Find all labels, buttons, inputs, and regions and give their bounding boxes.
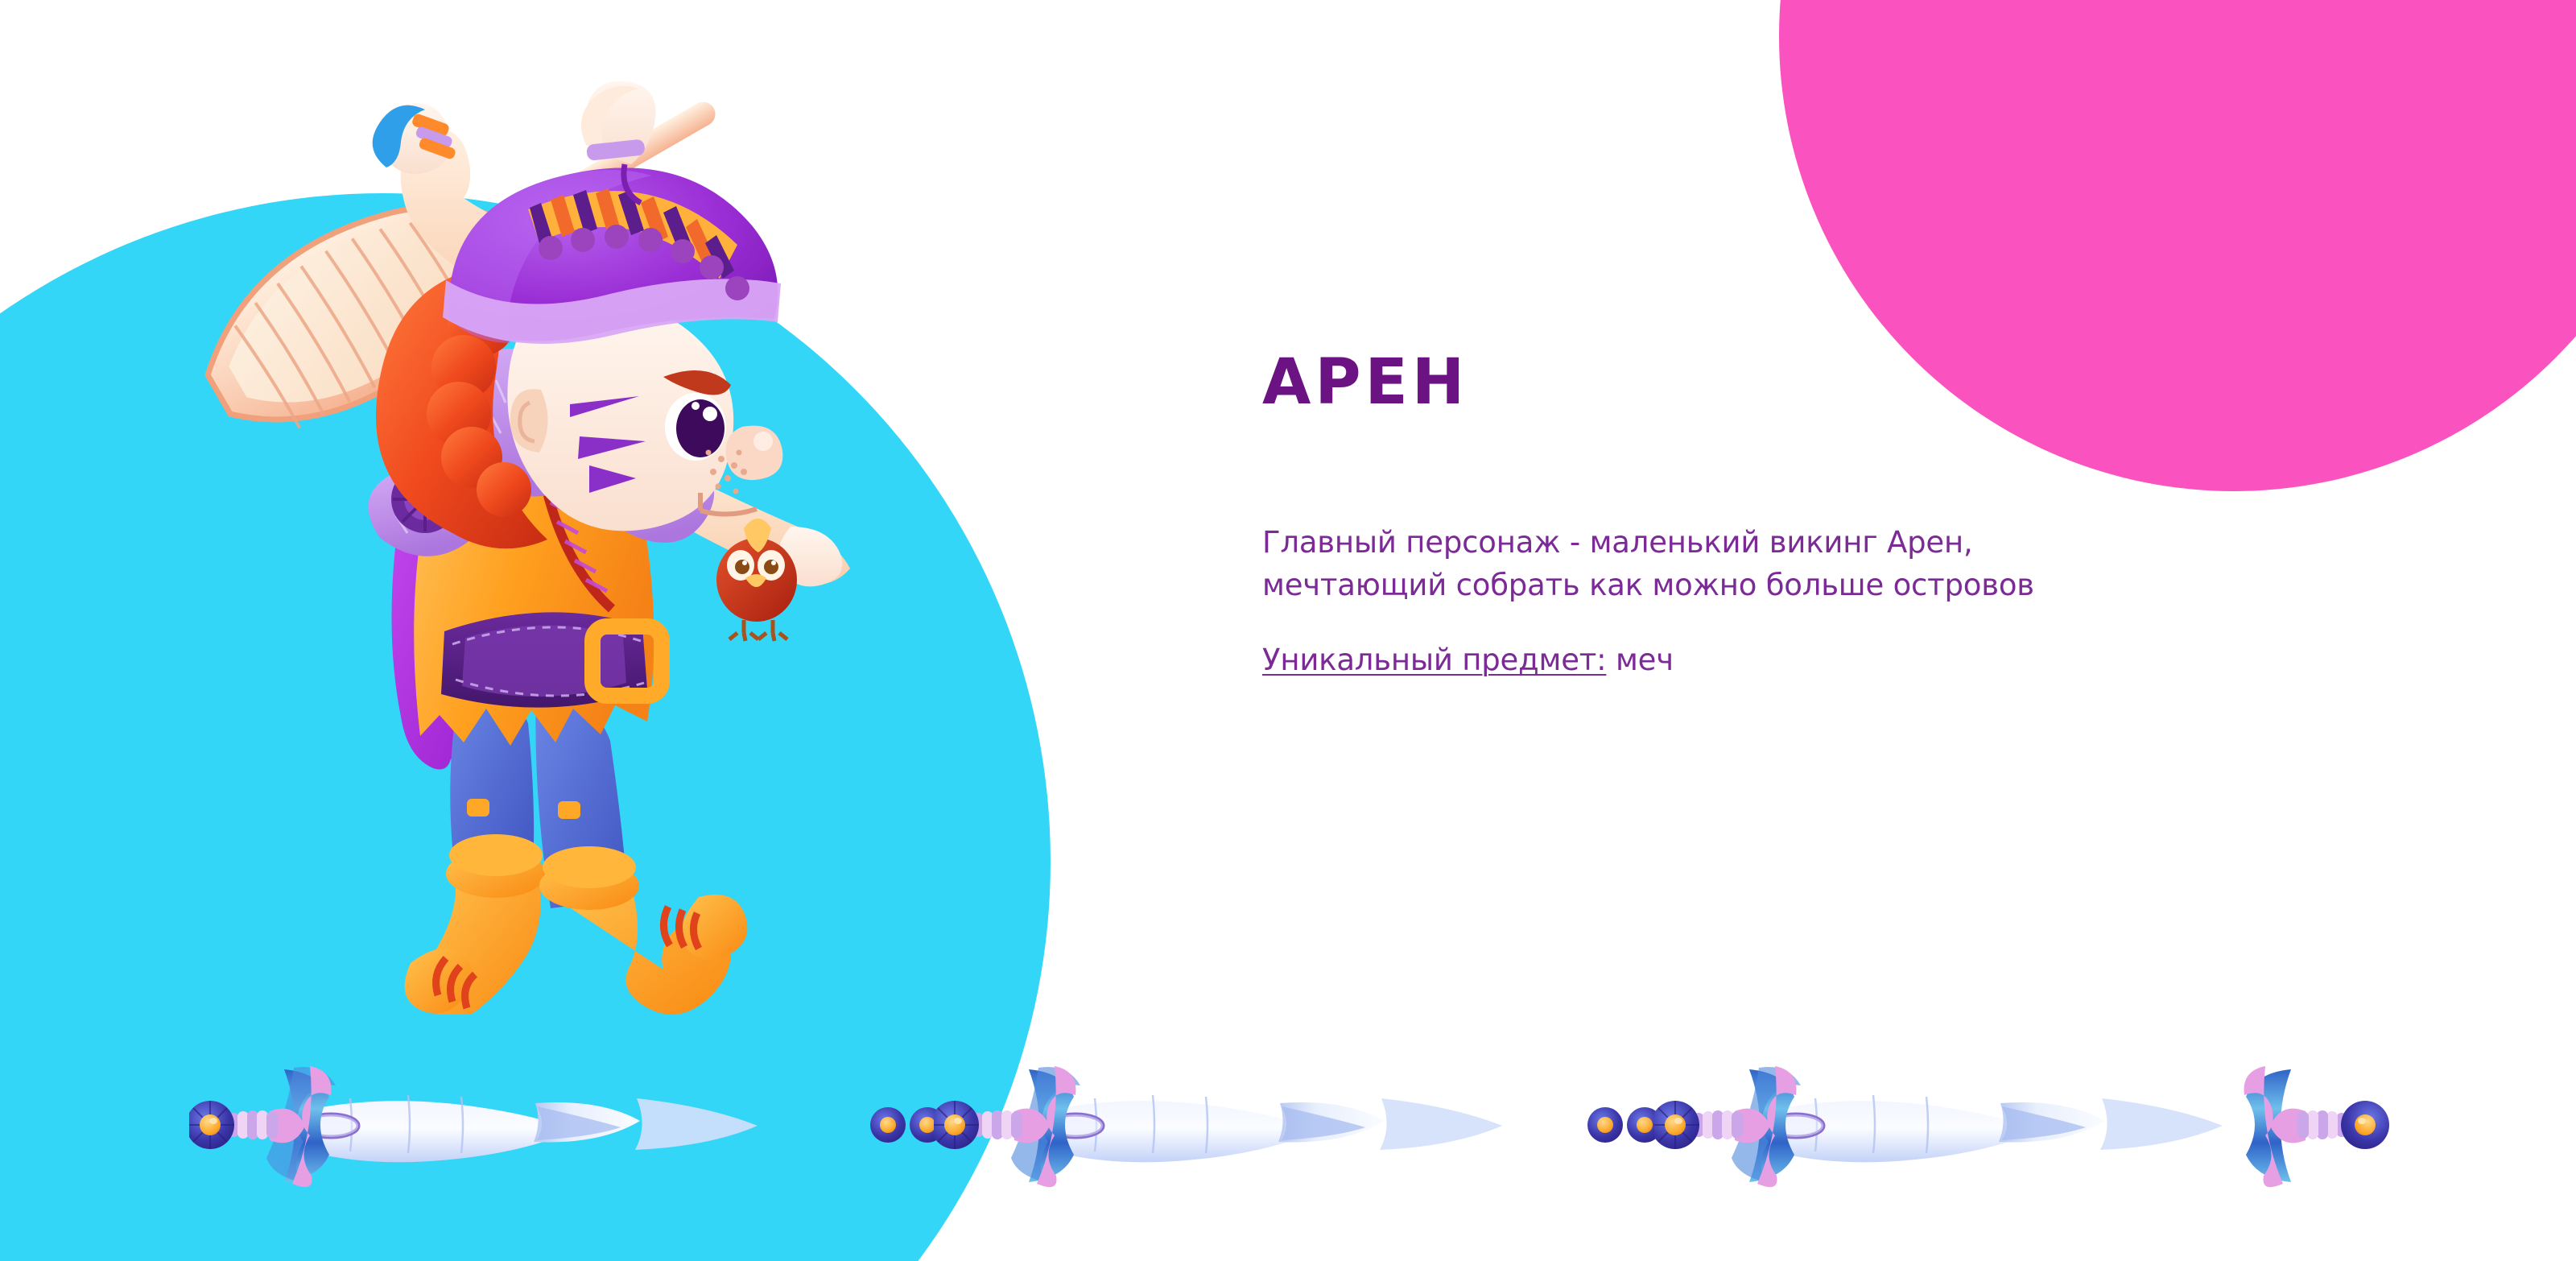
unique-item-value-space [1606,643,1616,677]
description-line-1: Главный персонаж - маленький викинг Арен… [1262,522,2333,564]
sword-connector-2 [1587,1107,1662,1143]
sword-1 [186,1066,758,1187]
legs [405,686,748,1015]
text-column: АРЕН Главный персонаж - маленький викинг… [1262,351,2333,677]
sword-3 [1651,1066,2223,1187]
viking-helmet [443,81,781,344]
unique-item-label: Уникальный предмет: [1262,643,1606,677]
slide-canvas: АРЕН Главный персонаж - маленький викинг… [0,0,2576,1261]
unique-item-row: Уникальный предмет: меч [1262,643,2333,677]
sword-divider-band [0,1061,2576,1190]
sword-tail-right [2244,1066,2389,1187]
viking-character-aren [145,81,950,1015]
sword-2 [931,1066,1502,1187]
belt [441,612,662,707]
page-title: АРЕН [1262,351,2333,414]
unique-item-value: меч [1616,643,1674,677]
description-line-2: мечтающий собрать как можно больше остро… [1262,564,2333,607]
character-description: Главный персонаж - маленький викинг Арен… [1262,522,2333,606]
